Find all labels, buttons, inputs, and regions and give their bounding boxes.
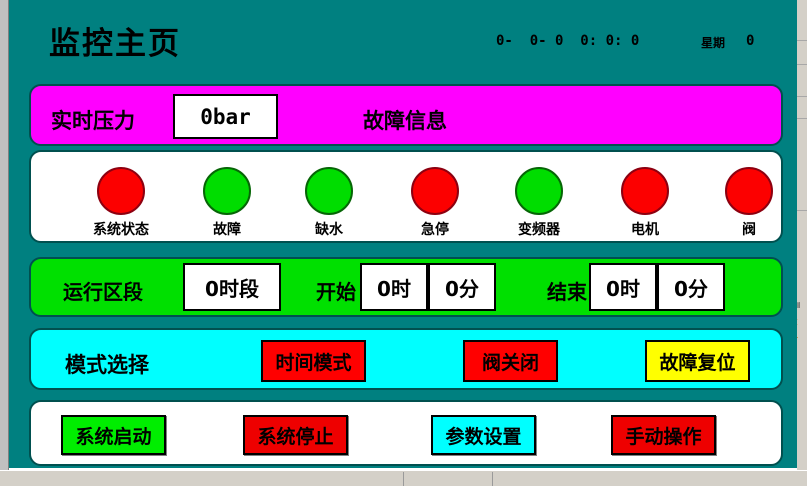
indicator-lamp-label-0: 系统状态: [66, 219, 176, 239]
realtime-pressure-label: 实时压力: [51, 105, 135, 135]
indicator-lamp-1: [203, 167, 251, 215]
run-section-label: 运行区段: [63, 276, 143, 305]
weekday-value: 0: [746, 33, 754, 49]
mode-button-2[interactable]: 故障复位: [645, 340, 750, 382]
action-button-3[interactable]: 手动操作: [611, 415, 716, 455]
run-section-value-field[interactable]: 0时段: [183, 263, 281, 311]
mode-button-0[interactable]: 时间模式: [261, 340, 366, 382]
end-minute-field[interactable]: 0分: [657, 263, 725, 311]
header-bar: 监控主页 0- 0- 0 0: 0: 0 星期 0: [9, 0, 797, 68]
taskbar[interactable]: [0, 470, 807, 486]
action-button-panel: 系统启动系统停止参数设置手动操作: [29, 400, 783, 466]
indicator-lamp-label-2: 缺水: [274, 219, 384, 239]
fault-info-label: 故障信息: [363, 105, 447, 135]
indicator-lamp-2: [305, 167, 353, 215]
hmi-screen: 监控主页 0- 0- 0 0: 0: 0 星期 0 实时压力 0bar 故障信息…: [0, 0, 807, 486]
start-minute-field[interactable]: 0分: [428, 263, 496, 311]
mode-select-label: 模式选择: [65, 349, 149, 379]
action-button-1[interactable]: 系统停止: [243, 415, 348, 455]
indicator-lamp-4: [515, 167, 563, 215]
indicator-lamp-3: [411, 167, 459, 215]
mode-button-1[interactable]: 阀关闭: [463, 340, 558, 382]
end-time-label: 结束: [547, 276, 587, 305]
page-title: 监控主页: [49, 18, 181, 63]
indicator-lamp-label-5: 电机: [590, 219, 700, 239]
indicator-lamp-6: [725, 167, 773, 215]
weekday-label: 星期: [701, 34, 725, 51]
indicator-lamp-0: [97, 167, 145, 215]
start-hour-field[interactable]: 0时: [360, 263, 428, 311]
indicator-lamp-label-4: 变频器: [484, 219, 594, 239]
indicator-lamp-label-6: 阀: [694, 219, 797, 239]
pressure-panel: 实时压力 0bar 故障信息: [29, 84, 783, 146]
start-time-label: 开始: [316, 276, 356, 305]
action-button-0[interactable]: 系统启动: [61, 415, 166, 455]
pressure-value-field[interactable]: 0bar: [173, 94, 278, 139]
mode-select-panel: 模式选择 时间模式阀关闭故障复位: [29, 328, 783, 390]
schedule-panel: 运行区段 0时段 开始 0时 0分 结束 0时 0分: [29, 257, 783, 317]
hmi-canvas: 监控主页 0- 0- 0 0: 0: 0 星期 0 实时压力 0bar 故障信息…: [9, 0, 797, 468]
indicator-lamp-label-1: 故障: [172, 219, 282, 239]
window-frame-left: [0, 0, 9, 470]
indicator-lamp-panel: 系统状态故障缺水急停变频器电机阀: [29, 150, 783, 243]
datetime-display: 0- 0- 0 0: 0: 0: [496, 33, 639, 49]
action-button-2[interactable]: 参数设置: [431, 415, 536, 455]
indicator-lamp-5: [621, 167, 669, 215]
end-hour-field[interactable]: 0时: [589, 263, 657, 311]
background-window-sliver: ] ▤ ⌶ T: [797, 0, 807, 470]
indicator-lamp-label-3: 急停: [380, 219, 490, 239]
